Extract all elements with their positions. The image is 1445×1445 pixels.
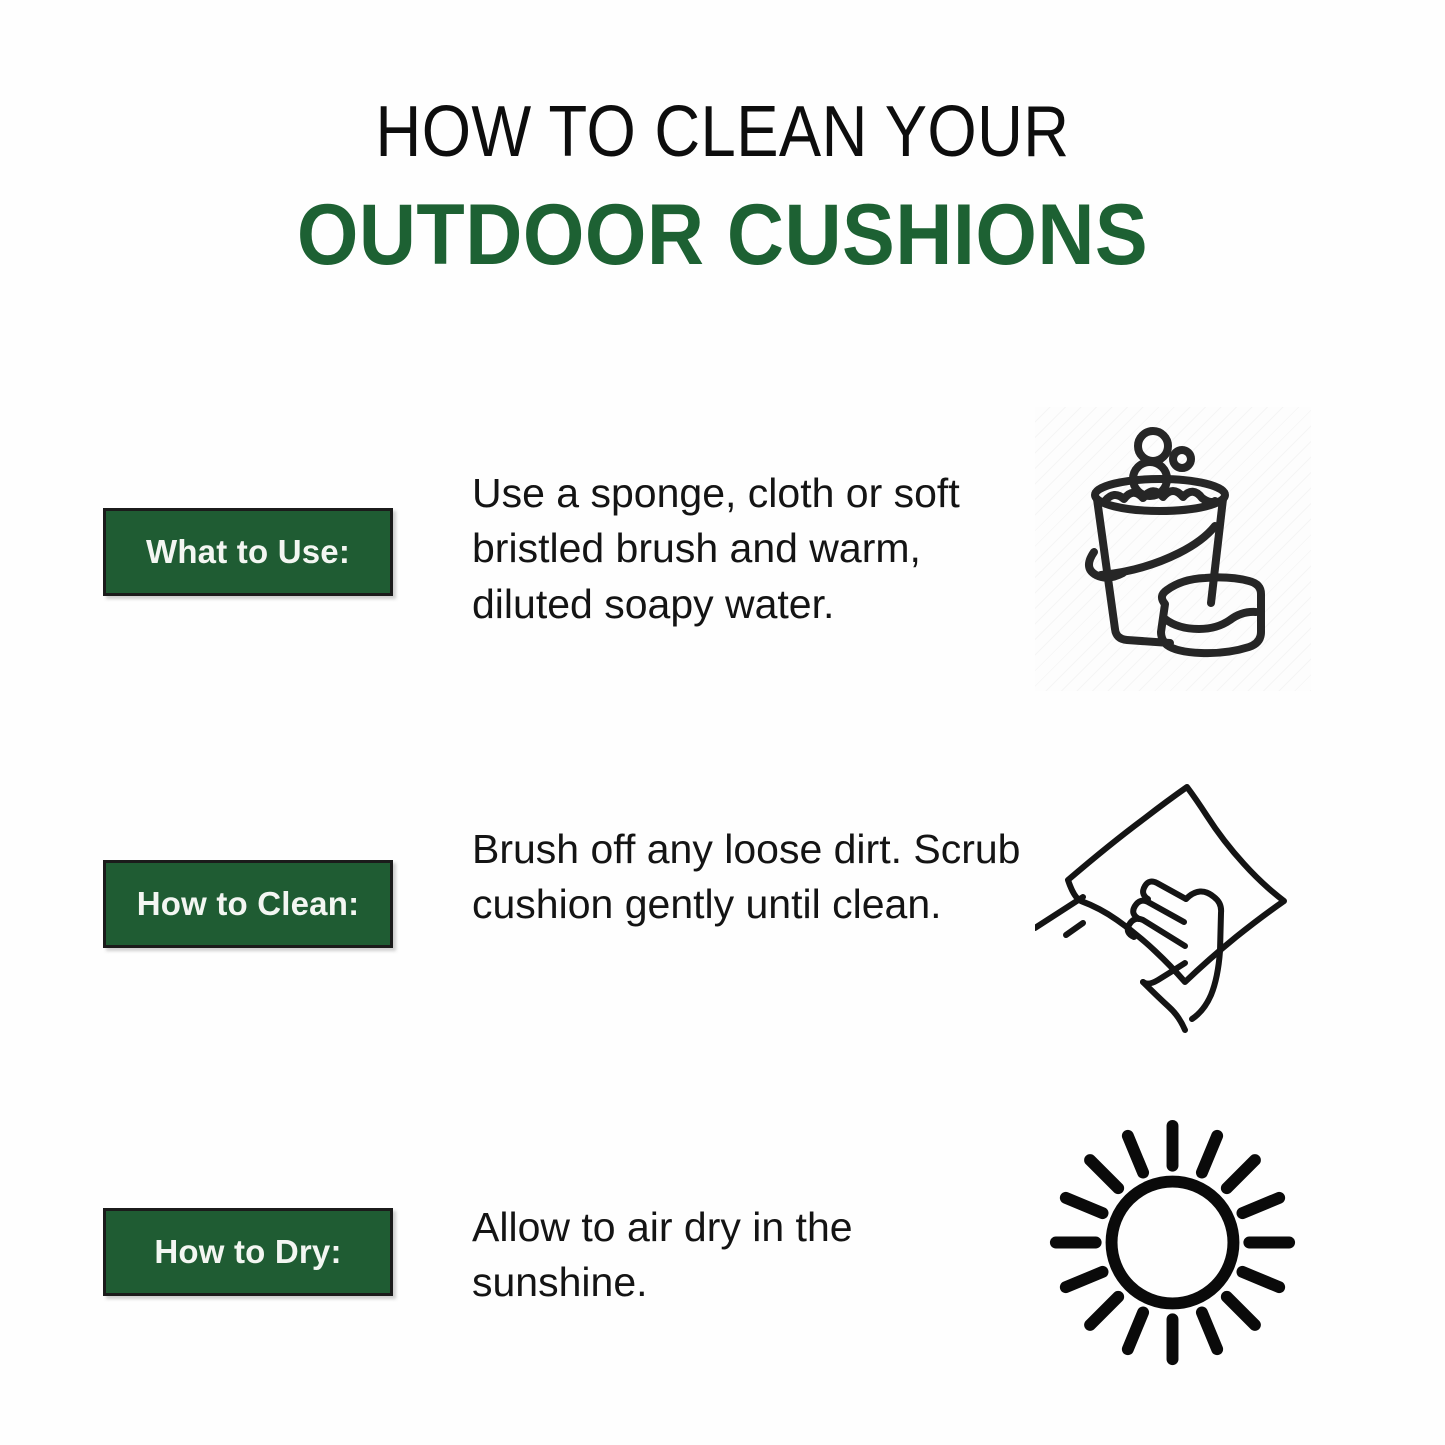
step-label-text: What to Use: [146,533,350,571]
step-label-box-what-to-use: What to Use: [103,508,393,596]
infographic-page: HOW TO CLEAN YOUR OUTDOOR CUSHIONS What … [0,0,1445,1445]
step-label-box-how-to-dry: How to Dry: [103,1208,393,1296]
step-body-text-what-to-use: Use a sponge, cloth or soft bristled bru… [472,466,1032,632]
hand-wiping-with-cloth-icon [1035,770,1305,1040]
bucket-with-bubbles-and-sponge-icon [1035,407,1311,691]
page-title-line-1: HOW TO CLEAN YOUR [87,96,1359,168]
step-row-how-to-clean: How to Clean: Brush off any loose dirt. … [0,760,1445,1060]
step-label-text: How to Clean: [137,885,360,923]
step-row-what-to-use: What to Use: Use a sponge, cloth or soft… [0,400,1445,700]
step-body-text-how-to-clean: Brush off any loose dirt. Scrub cushion … [472,822,1032,933]
step-label-text: How to Dry: [154,1233,341,1271]
step-body-text-how-to-dry: Allow to air dry in the sunshine. [472,1200,1032,1311]
step-label-box-how-to-clean: How to Clean: [103,860,393,948]
step-row-how-to-dry: How to Dry: Allow to air dry in the suns… [0,1100,1445,1400]
page-header: HOW TO CLEAN YOUR OUTDOOR CUSHIONS [0,96,1445,278]
page-title-line-2: OUTDOOR CUSHIONS [58,192,1387,278]
sun-icon [1040,1110,1305,1375]
